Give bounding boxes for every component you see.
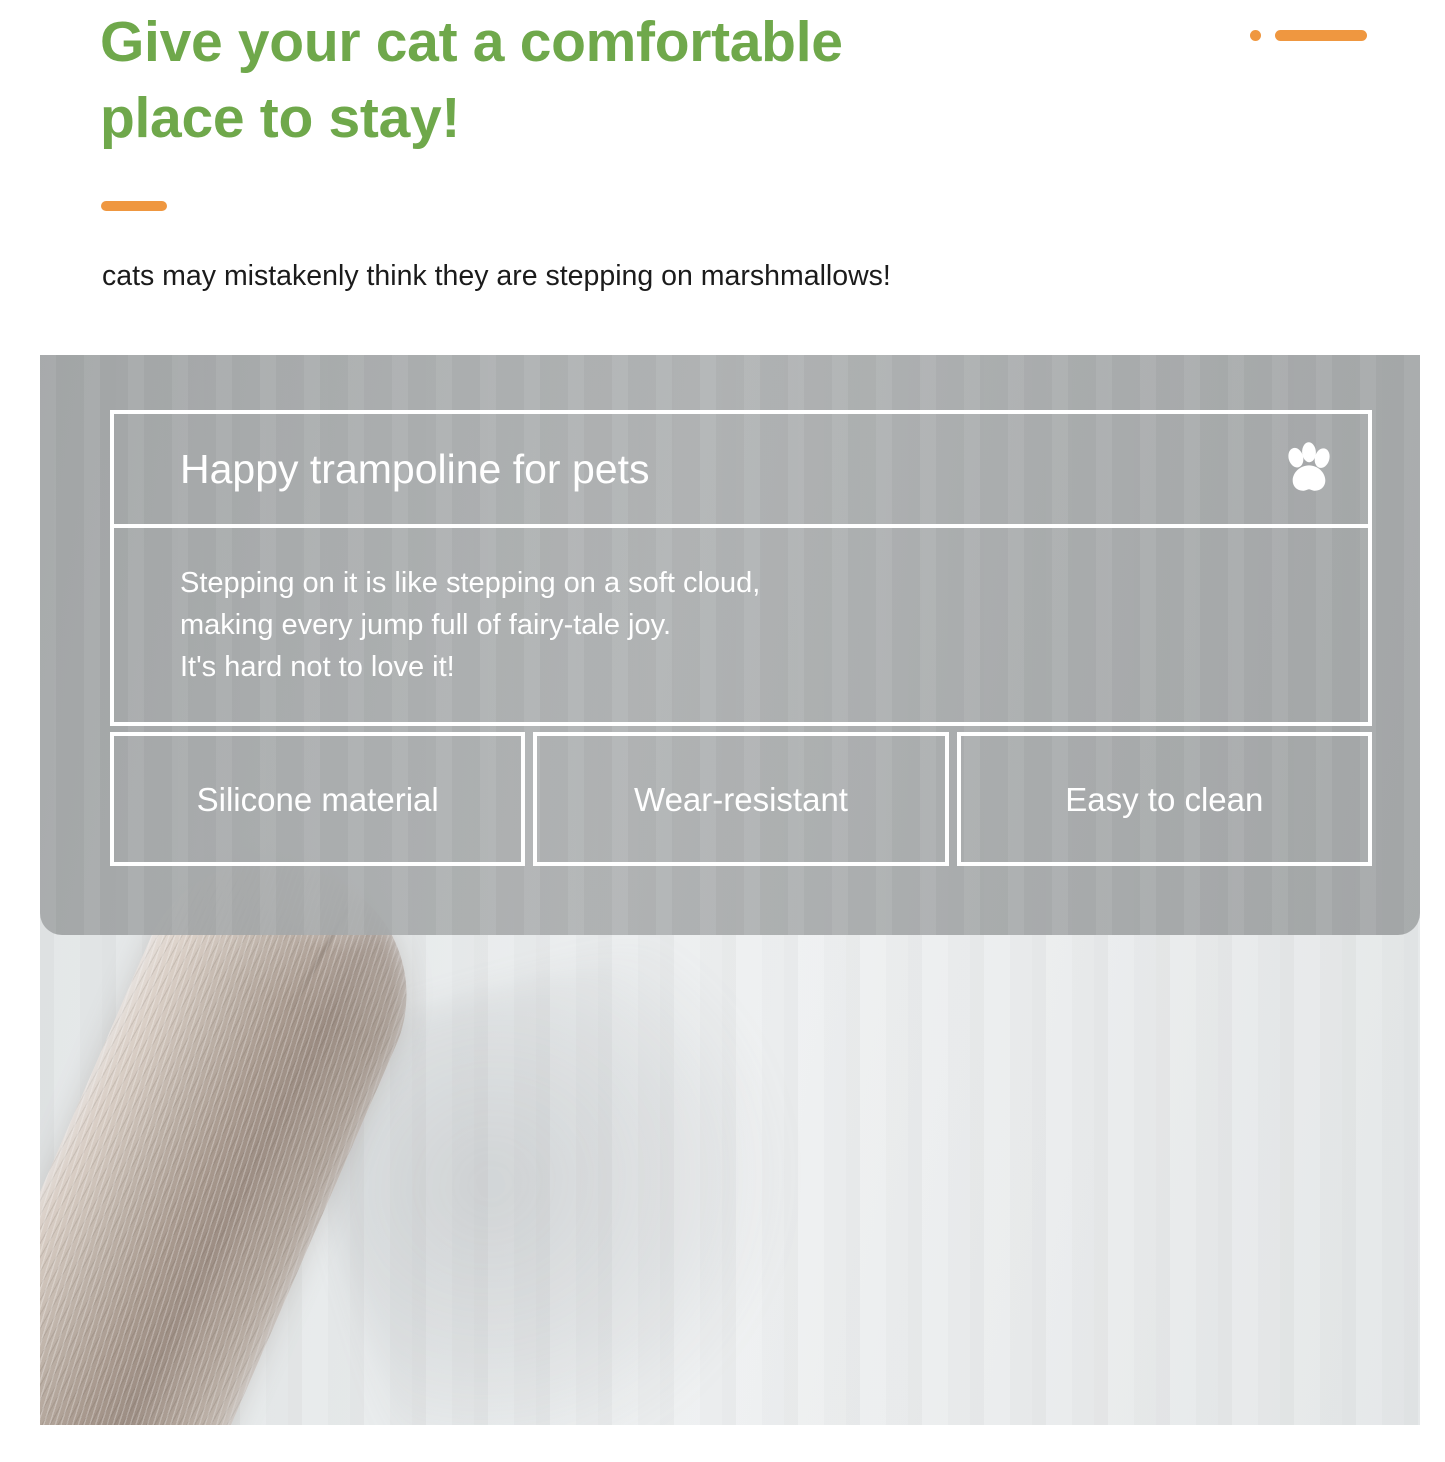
page-subtitle: cats may mistakenly think they are stepp… bbox=[102, 256, 891, 296]
paw-icon bbox=[1280, 440, 1338, 498]
feature-label: Silicone material bbox=[197, 783, 439, 816]
card-title: Happy trampoline for pets bbox=[180, 449, 649, 490]
product-info-card: Happy trampoline for pets Stepping on it… bbox=[110, 410, 1372, 866]
top-right-decoration bbox=[1250, 30, 1367, 41]
orange-rule-divider bbox=[101, 201, 167, 211]
card-header: Happy trampoline for pets bbox=[110, 410, 1372, 528]
feature-box-easy-to-clean: Easy to clean bbox=[957, 732, 1372, 866]
feature-box-row: Silicone material Wear-resistant Easy to… bbox=[110, 732, 1372, 866]
feature-box-silicone-material: Silicone material bbox=[110, 732, 525, 866]
card-description-line-2: making every jump full of fairy-tale joy… bbox=[180, 604, 1368, 646]
headline-line-2: place to stay! bbox=[100, 80, 1100, 156]
feature-box-wear-resistant: Wear-resistant bbox=[533, 732, 948, 866]
feature-label: Wear-resistant bbox=[634, 783, 848, 816]
card-description: Stepping on it is like stepping on a sof… bbox=[110, 524, 1372, 726]
card-description-line-3: It's hard not to love it! bbox=[180, 646, 1368, 688]
feature-label: Easy to clean bbox=[1065, 783, 1263, 816]
card-description-line-1: Stepping on it is like stepping on a sof… bbox=[180, 562, 1368, 604]
page-headline: Give your cat a comfortable place to sta… bbox=[100, 4, 1100, 156]
headline-line-1: Give your cat a comfortable bbox=[100, 4, 1100, 80]
orange-bar-icon bbox=[1275, 30, 1367, 41]
orange-dot-icon bbox=[1250, 30, 1261, 41]
